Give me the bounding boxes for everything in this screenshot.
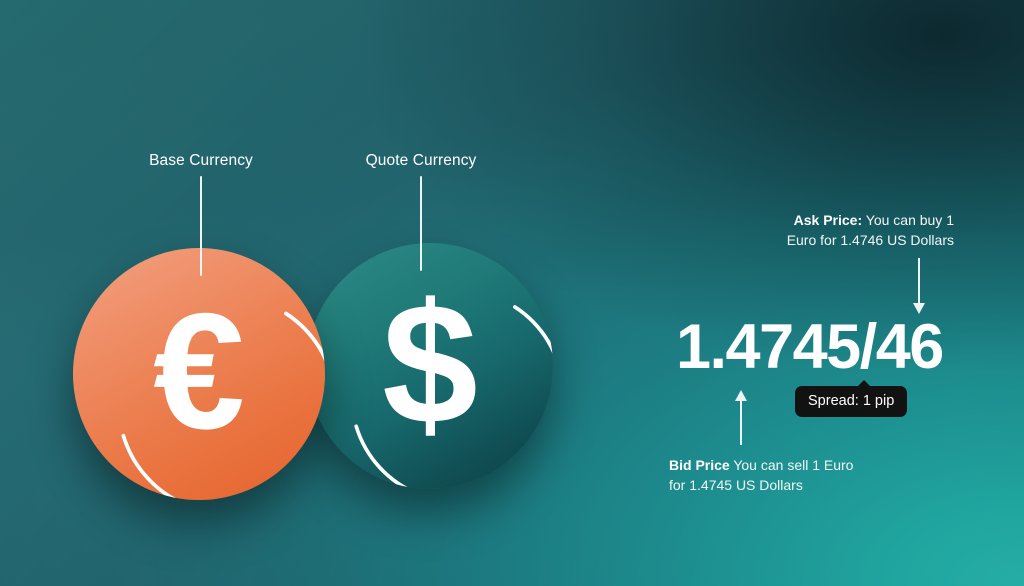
bid-price-label: Bid Price xyxy=(669,457,730,473)
bid-price-line2: for 1.4745 US Dollars xyxy=(669,477,803,493)
bid-price-text: You can sell 1 Euro xyxy=(730,457,854,473)
ask-price-text: You can buy 1 xyxy=(862,212,954,228)
ask-price-arrow-shaft xyxy=(918,258,920,304)
price-quote: 1.4745/46 xyxy=(676,316,943,379)
price-panel: Ask Price: You can buy 1 Euro for 1.4746… xyxy=(0,0,1024,586)
ask-price-annotation: Ask Price: You can buy 1 Euro for 1.4746… xyxy=(787,210,954,251)
bid-price-annotation: Bid Price You can sell 1 Euro for 1.4745… xyxy=(669,455,853,496)
ask-price-line2: Euro for 1.4746 US Dollars xyxy=(787,232,954,248)
bid-price-arrow-shaft xyxy=(740,400,742,445)
ask-price-line1: Ask Price: You can buy 1 xyxy=(794,212,954,228)
ask-price-label: Ask Price: xyxy=(794,212,862,228)
bid-price-line1: Bid Price You can sell 1 Euro xyxy=(669,457,853,473)
spread-badge: Spread: 1 pip xyxy=(795,386,907,417)
infographic-canvas: $ € Base Currency Quote Currency Ask Pri… xyxy=(0,0,1024,586)
